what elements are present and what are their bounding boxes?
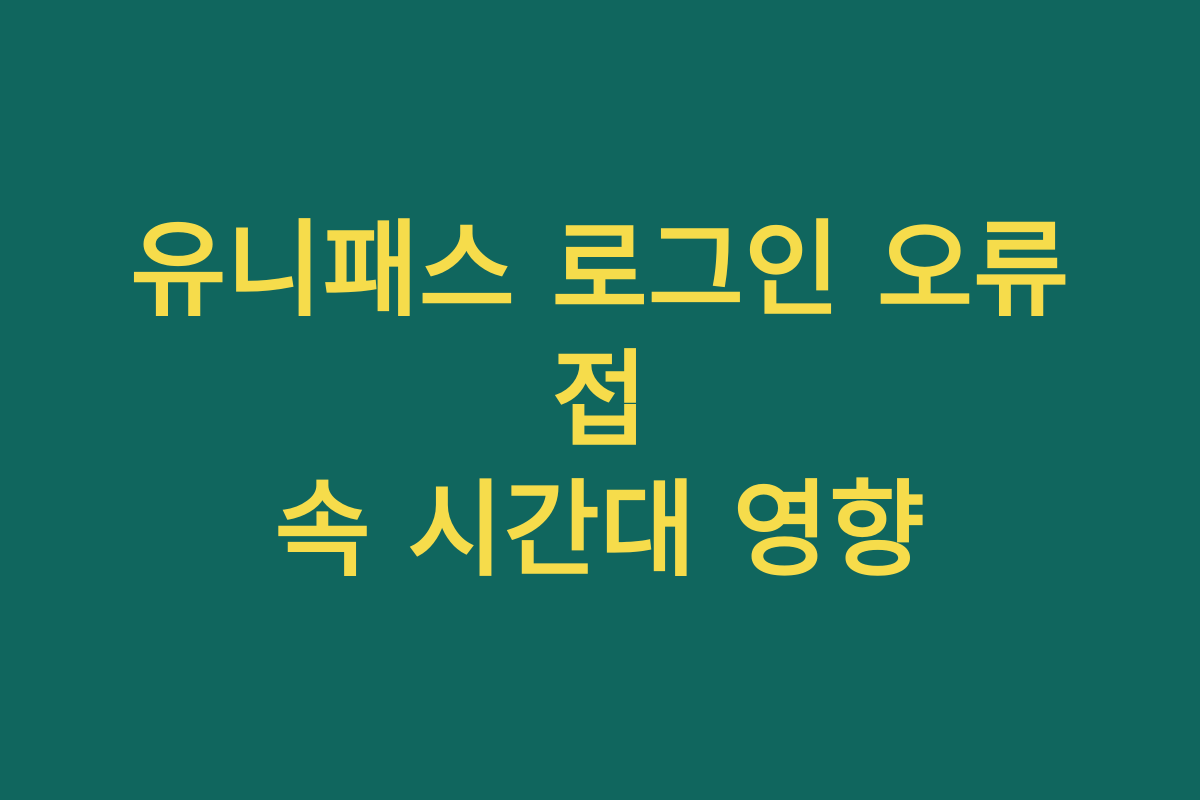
page-title: 유니패스 로그인 오류 접 속 시간대 영향 xyxy=(70,205,1130,595)
page-title-line-2: 속 시간대 영향 xyxy=(70,465,1130,595)
banner-card: 유니패스 로그인 오류 접 속 시간대 영향 xyxy=(0,0,1200,800)
page-title-line-1: 유니패스 로그인 오류 접 xyxy=(70,205,1130,465)
